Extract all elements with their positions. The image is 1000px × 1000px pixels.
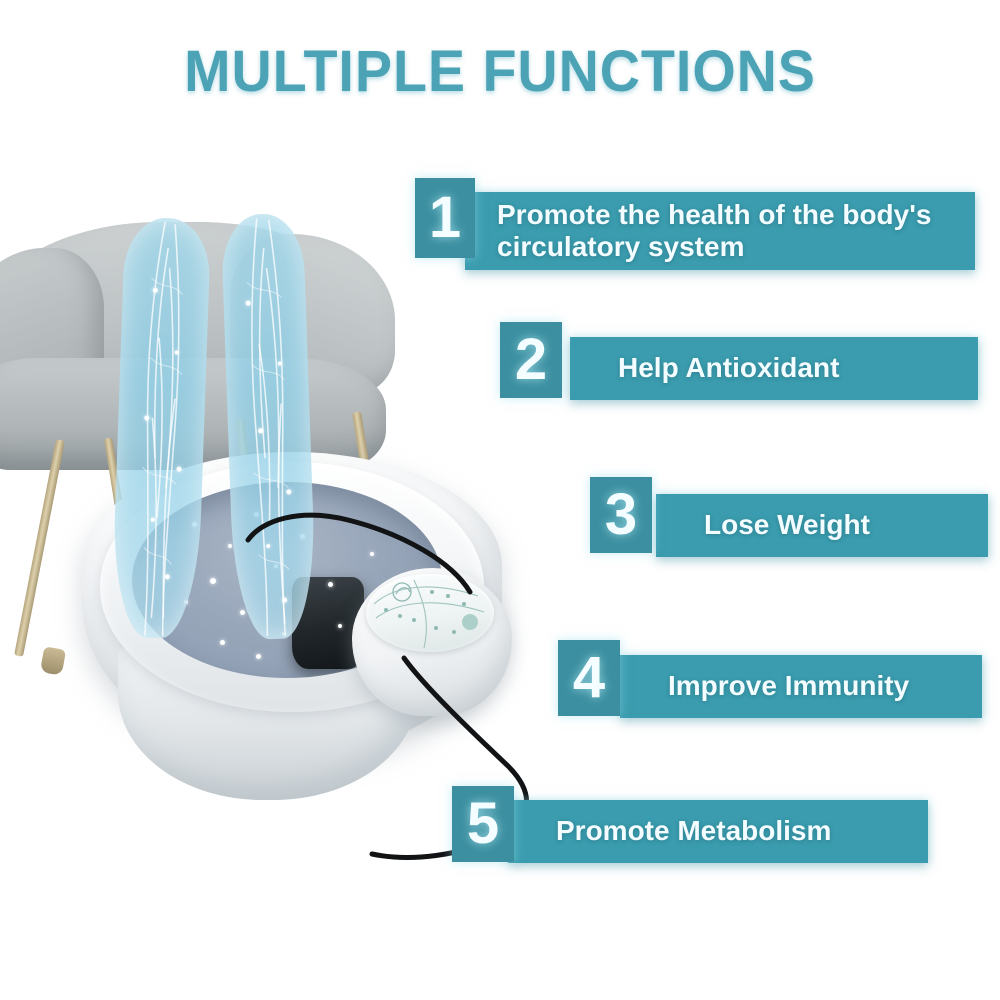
page-title: MULTIPLE FUNCTIONS (20, 38, 980, 105)
feature-bar-1[interactable]: Promote the health of the body's circula… (465, 192, 975, 270)
translucent-leg-illustration (221, 213, 318, 641)
infographic-canvas: MULTIPLE FUNCTIONS (0, 0, 1000, 1000)
feature-label-4: Improve Immunity (668, 670, 909, 702)
feature-bar-3[interactable]: Lose Weight (656, 494, 988, 557)
feature-number-1: 1 (415, 178, 475, 258)
feature-label-2: Help Antioxidant (618, 352, 839, 384)
feature-number-2: 2 (500, 322, 562, 398)
feature-number-5: 5 (452, 786, 514, 862)
chair-leg-tip (40, 646, 66, 675)
feature-number-3: 3 (590, 477, 652, 553)
feature-bar-2[interactable]: Help Antioxidant (570, 337, 978, 400)
translucent-leg-illustration (111, 217, 212, 640)
feature-label-1: Promote the health of the body's circula… (497, 199, 931, 264)
feature-label-3: Lose Weight (704, 509, 870, 541)
feature-bar-5[interactable]: Promote Metabolism (508, 800, 928, 863)
feature-label-5: Promote Metabolism (556, 815, 831, 847)
chair-leg (14, 439, 65, 657)
feature-bar-4[interactable]: Improve Immunity (620, 655, 982, 718)
feature-number-4: 4 (558, 640, 620, 716)
control-panel-disc[interactable] (366, 574, 494, 652)
